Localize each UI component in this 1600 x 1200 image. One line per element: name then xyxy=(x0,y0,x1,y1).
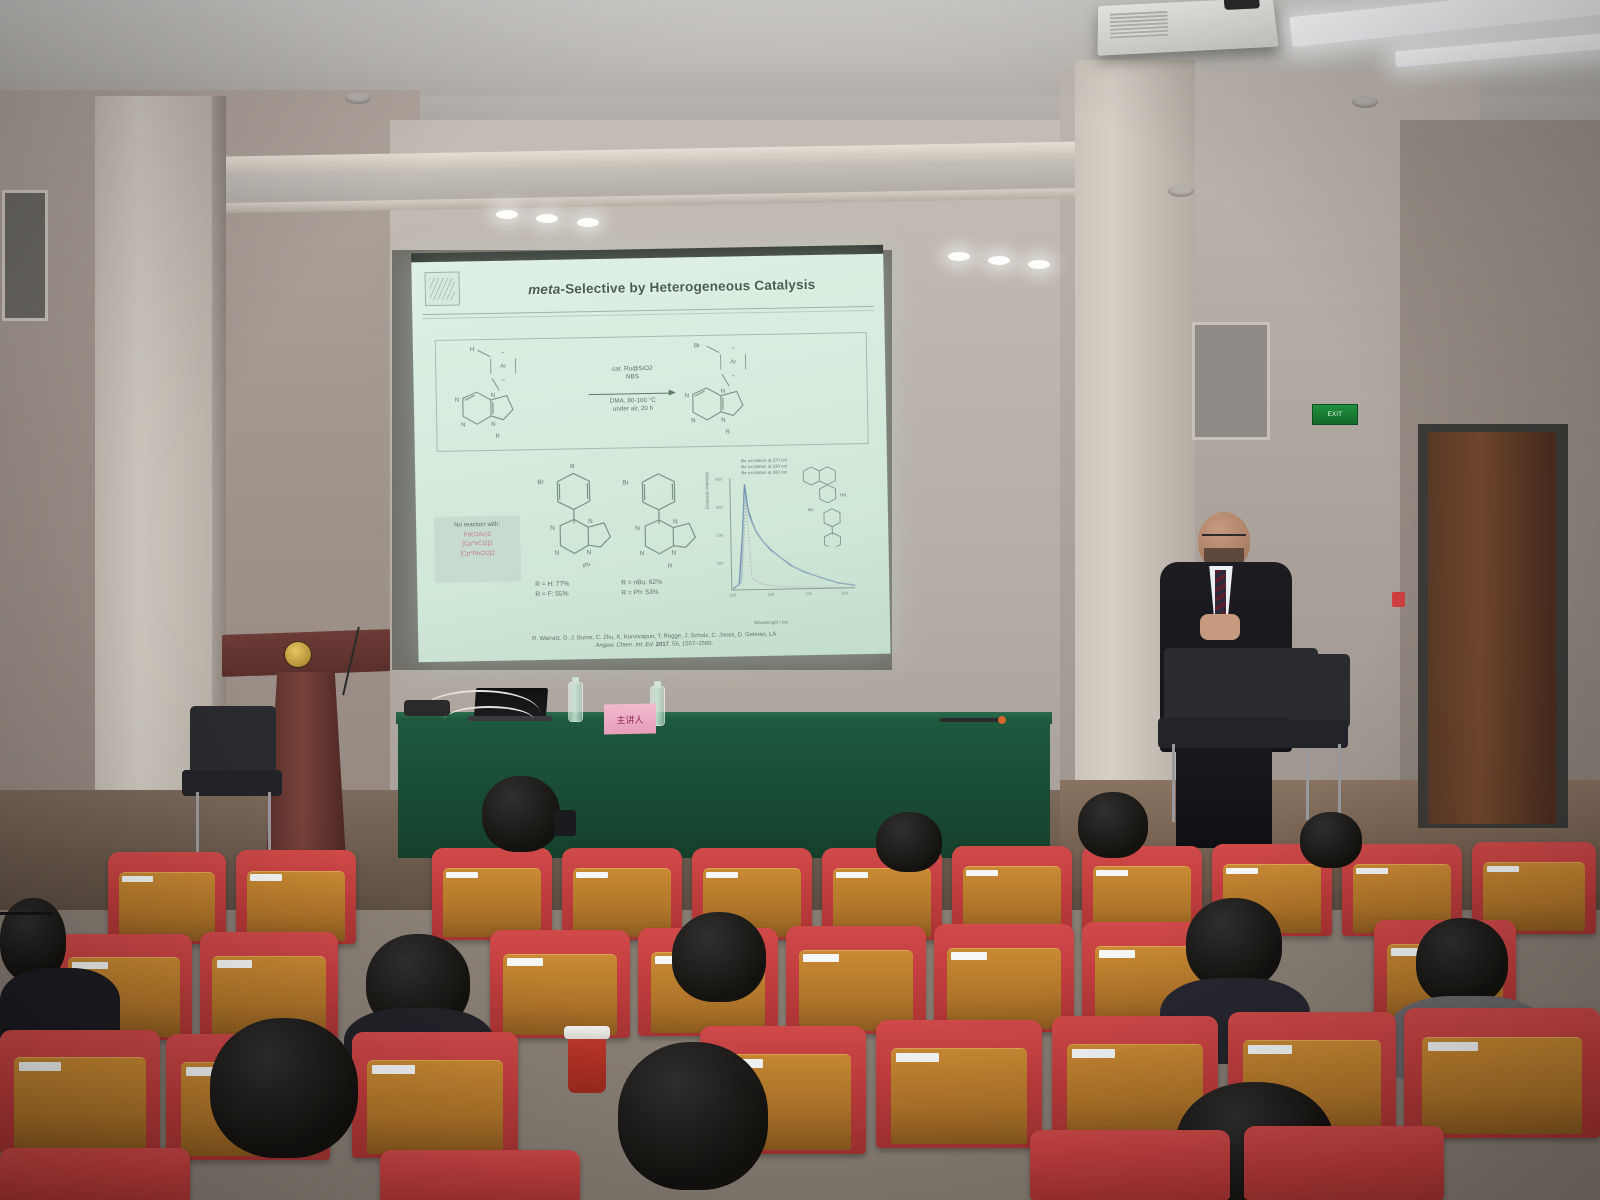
product-2-yields: R = nBu: 62% R = Ph: 53% xyxy=(621,578,662,599)
projector-vent-grill xyxy=(1110,11,1169,39)
condition-reagent: NBS xyxy=(584,373,680,383)
svg-text:Br: Br xyxy=(537,479,544,486)
svg-text:N: N xyxy=(555,550,560,557)
seat-c8[interactable] xyxy=(1404,1008,1600,1138)
projected-slide: meta-Selective by Heterogeneous Catalysi… xyxy=(411,254,890,663)
audience-head-c1 xyxy=(210,1018,358,1158)
chair-stage-left-leg-1 xyxy=(196,792,199,854)
seat-d4[interactable] xyxy=(1244,1126,1444,1200)
ceiling-can-3 xyxy=(1168,185,1194,197)
chair-stage-right-2-leg xyxy=(1338,744,1341,816)
reaction-conditions-above: cat. Ru@SiO2 NBS xyxy=(584,364,680,383)
audience-head-b4 xyxy=(1416,918,1508,1006)
emission-spectrum-chart: file excitation at 370 nm file excitatio… xyxy=(707,454,872,617)
reference-volume: 56 xyxy=(672,642,679,648)
slide-reference: R. Warratz, D. J. Burns, C. Zhu, K. Korv… xyxy=(432,629,876,654)
chart-annotation-hn: HN xyxy=(840,492,847,497)
seat-d2[interactable] xyxy=(380,1150,580,1200)
svg-text:N: N xyxy=(587,549,592,556)
chart-xlabel: Wavelength / nm xyxy=(754,620,788,626)
chair-stage-left-leg-2 xyxy=(268,792,271,850)
svg-text:N: N xyxy=(491,393,495,399)
product-2-yield-1: R = Ph: 53% xyxy=(621,588,662,599)
seat-a2[interactable] xyxy=(236,850,356,944)
water-bottle-1 xyxy=(568,682,583,722)
reaction-scheme-box: H Ar N N N N R xyxy=(435,332,869,452)
product-1-yields: R = H: 77% R = F: 55% xyxy=(535,580,569,601)
svg-text:N: N xyxy=(673,519,678,526)
svg-text:N: N xyxy=(640,550,645,557)
seat-d1[interactable] xyxy=(0,1148,190,1200)
product-structure-1: Br R N N N N iPr xyxy=(525,459,617,581)
downlight-1 xyxy=(496,210,518,219)
slide-title-italic: meta xyxy=(528,282,561,298)
svg-text:iPr: iPr xyxy=(583,562,592,569)
wall-vent-right xyxy=(1192,322,1270,440)
fire-alarm-icon xyxy=(1392,592,1405,607)
desk-microphone-base xyxy=(404,700,450,716)
lectern-stem xyxy=(266,672,346,860)
wall-vent-left xyxy=(2,190,48,321)
projector-lens xyxy=(1223,0,1260,10)
coffee-cup-lid xyxy=(564,1026,610,1039)
seat-a1[interactable] xyxy=(108,852,226,944)
svg-text:Br: Br xyxy=(622,479,629,486)
product-purine-core: N N N N R xyxy=(681,383,766,437)
lecture-hall-scene: meta-Selective by Heterogeneous Catalysi… xyxy=(0,0,1600,1200)
product-bond-1 xyxy=(706,346,719,353)
svg-text:R: R xyxy=(725,430,730,436)
condition-atmosphere-time: under air, 20 h xyxy=(585,405,681,415)
speaker-glasses-icon xyxy=(1202,534,1246,543)
downlight-4 xyxy=(948,252,970,261)
downlight-3 xyxy=(577,218,599,227)
ceiling-projector xyxy=(1097,0,1278,56)
title-rule-bottom xyxy=(422,310,874,319)
svg-text:N: N xyxy=(721,418,725,424)
no-reaction-item-1: [Cp*IrCl2]2 xyxy=(462,540,492,548)
svg-text:R: R xyxy=(570,463,575,470)
svg-text:N: N xyxy=(461,422,465,428)
no-reaction-heading: No reaction with: xyxy=(434,519,520,530)
audience-head-a4 xyxy=(1300,812,1362,868)
product-ar-label: Ar xyxy=(730,359,736,365)
seat-b5[interactable] xyxy=(786,926,926,1034)
reaction-arrow xyxy=(589,393,675,396)
audience-head-a3 xyxy=(1078,792,1148,858)
no-reaction-box: No reaction with: Pd(OAc)2 [Cp*IrCl2]2 [… xyxy=(434,515,521,583)
product-br-label: Br xyxy=(694,342,700,349)
projection-screen-frame: meta-Selective by Heterogeneous Catalysi… xyxy=(411,254,890,673)
substrate-aryl-ring: Ar xyxy=(490,351,517,380)
product-aryl-ring: Ar xyxy=(720,347,747,376)
downlight-5 xyxy=(988,256,1010,265)
product-structure-2: Br N N N N R xyxy=(610,459,702,581)
seat-c5[interactable] xyxy=(876,1020,1042,1148)
exit-door[interactable] xyxy=(1428,432,1556,824)
table-microphone xyxy=(940,718,1002,722)
substrate-bond-1 xyxy=(477,350,490,357)
seat-b3[interactable] xyxy=(490,930,630,1038)
ceiling-can-2 xyxy=(1352,96,1378,108)
substrate-ar-label: Ar xyxy=(500,363,506,369)
exit-sign: EXIT xyxy=(1312,404,1358,425)
audience-glasses-icon xyxy=(0,912,52,923)
downlight-6 xyxy=(1028,260,1050,269)
svg-text:N: N xyxy=(721,389,725,395)
seat-c3[interactable] xyxy=(352,1032,518,1158)
chair-stage-right-1-leg-1 xyxy=(1172,744,1175,822)
no-reaction-item-0: Pd(OAc)2 xyxy=(464,530,491,537)
svg-text:N: N xyxy=(685,393,689,399)
no-reaction-item-2: [Cp*RhCl2]2 xyxy=(460,549,495,557)
svg-text:N: N xyxy=(691,418,695,424)
chair-stage-left-back xyxy=(190,706,276,778)
ceiling-can-1 xyxy=(345,92,371,104)
reaction-conditions-below: DMA, 80-100 °C under air, 20 h xyxy=(585,396,681,415)
chair-stage-right-2-seat xyxy=(1272,720,1348,748)
audience-head-b3 xyxy=(1186,898,1282,990)
speaker-clasped-hands xyxy=(1200,614,1240,640)
seat-a3[interactable] xyxy=(432,848,552,940)
svg-text:R: R xyxy=(495,434,500,440)
substrate-h-label: H xyxy=(470,346,475,353)
speaker-trousers xyxy=(1176,740,1272,848)
audience-head-b2 xyxy=(672,912,766,1002)
exit-sign-text: EXIT xyxy=(1328,412,1343,418)
svg-text:N: N xyxy=(491,422,495,428)
audience-head-c2 xyxy=(618,1042,768,1190)
slide-title: meta-Selective by Heterogeneous Catalysi… xyxy=(472,276,872,298)
product-1-yield-0: R = H: 77% xyxy=(535,580,569,591)
chart-inset-structures: HN Me xyxy=(793,460,865,547)
svg-text:N: N xyxy=(672,550,677,557)
audience-head-a1 xyxy=(482,776,560,852)
chair-stage-right-1-leg-2 xyxy=(1306,744,1309,820)
speaker-name-card-text: 主讲人 xyxy=(616,712,643,725)
seat-a4[interactable] xyxy=(562,848,682,940)
slide-logo-icon xyxy=(424,271,460,306)
svg-text:N: N xyxy=(588,518,593,525)
chair-stage-right-2-back xyxy=(1288,654,1350,728)
audience-phone xyxy=(554,810,576,836)
svg-text:N: N xyxy=(455,398,459,404)
chart-annotation-me: Me xyxy=(808,507,815,512)
svg-text:N: N xyxy=(635,525,640,532)
svg-text:N: N xyxy=(550,525,555,532)
svg-text:R: R xyxy=(668,563,673,570)
seat-d3[interactable] xyxy=(1030,1130,1230,1200)
university-crest-icon xyxy=(284,641,312,668)
seat-c1[interactable] xyxy=(0,1030,160,1154)
coffee-cup xyxy=(568,1035,606,1093)
downlight-2 xyxy=(536,214,558,223)
slide-title-rest: -Selective by Heterogeneous Catalysis xyxy=(560,277,815,297)
cable-2 xyxy=(444,706,534,734)
substrate-purine-core: N N N N R xyxy=(451,387,536,441)
reference-year: 2017 xyxy=(656,642,669,648)
reference-journal: Angew. Chem. Int. Ed. xyxy=(595,642,654,649)
product-1-yield-1: R = F: 55% xyxy=(535,590,569,601)
reference-pages: 1557–1560 xyxy=(682,641,712,648)
speaker-name-card: 主讲人 xyxy=(604,704,656,735)
audience-head-a2 xyxy=(876,812,942,872)
